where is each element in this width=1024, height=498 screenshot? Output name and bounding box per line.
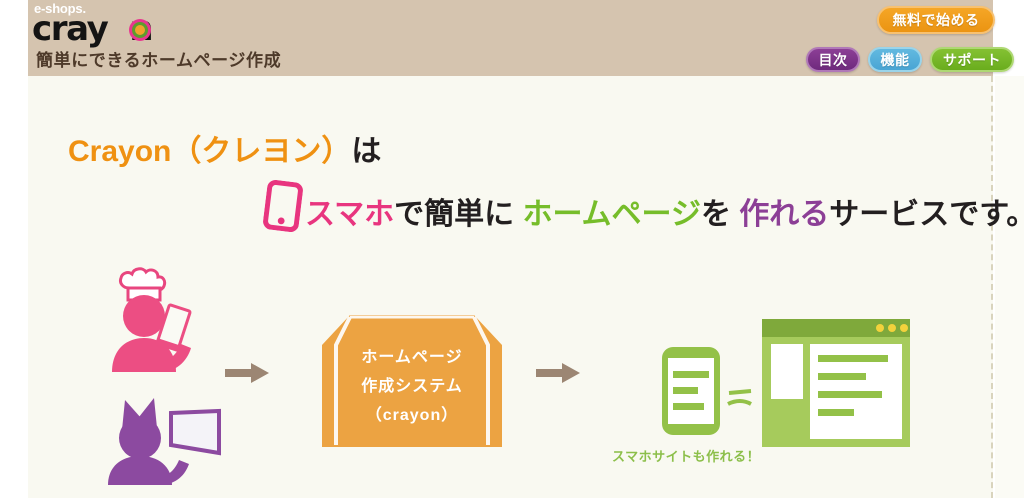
illustration-area: ホームページ 作成システム （crayon）	[0, 0, 965, 422]
arrow-right-icon-2	[536, 361, 580, 385]
page-root: e-shops. crayon 簡単にできるホームページ作成 無料で始める 目次…	[0, 0, 1024, 498]
cat-person-illustration	[95, 390, 225, 485]
arrow-right-icon-1	[225, 361, 269, 385]
page-right-gutter	[995, 76, 1024, 498]
system-box-illustration: ホームページ 作成システム （crayon）	[322, 313, 502, 447]
chef-person-illustration	[95, 262, 225, 372]
mobile-site-caption: スマホサイトも作れる！	[612, 446, 760, 465]
system-box-label: ホームページ 作成システム （crayon）	[322, 343, 502, 430]
output-illustration	[630, 305, 960, 450]
